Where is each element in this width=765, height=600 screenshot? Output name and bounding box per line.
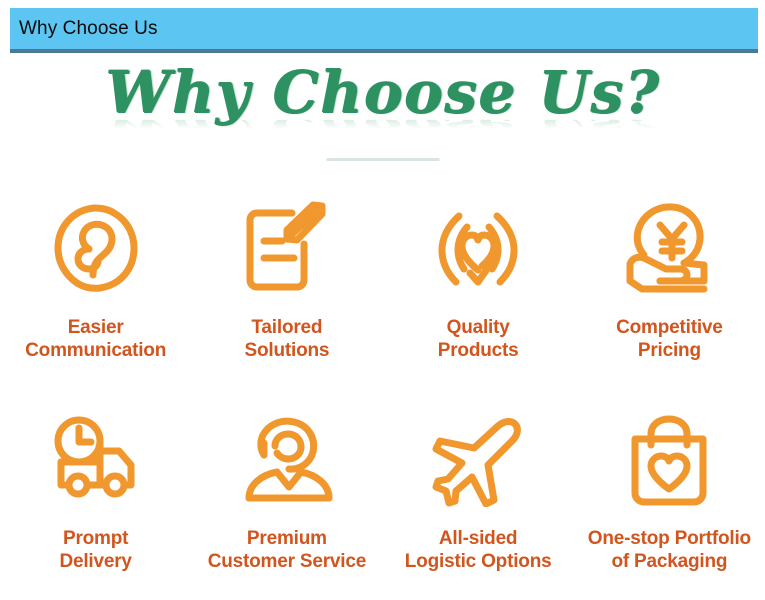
feature-card-all-sided-logistic-options[interactable]: All-sided Logistic Options: [383, 401, 574, 600]
hero-title-reflection: Why Choose Us?: [0, 120, 765, 129]
window-title: Why Choose Us: [10, 18, 158, 40]
ear-listening-icon: [48, 196, 144, 300]
feature-card-competitive-pricing[interactable]: Competitive Pricing: [574, 188, 765, 401]
heart-signal-check-icon: [430, 196, 526, 300]
hero-divider: [326, 158, 439, 161]
airplane-icon: [430, 409, 526, 513]
feature-label: Tailored Solutions: [245, 316, 330, 362]
shopping-bag-heart-icon: [621, 409, 717, 513]
feature-label: Premium Customer Service: [208, 527, 366, 573]
feature-grid: Easier Communication Tailored Solutions: [0, 188, 765, 600]
feature-label: One-stop Portfolio of Packaging: [588, 527, 751, 573]
feature-card-quality-products[interactable]: Quality Products: [383, 188, 574, 401]
feature-card-one-stop-portfolio[interactable]: One-stop Portfolio of Packaging: [574, 401, 765, 600]
feature-label: Prompt Delivery: [59, 527, 131, 573]
feature-label: Quality Products: [438, 316, 519, 362]
feature-card-tailored-solutions[interactable]: Tailored Solutions: [191, 188, 382, 401]
hand-coin-yen-icon: [621, 196, 717, 300]
hero-section: Why Choose Us? Why Choose Us?: [0, 57, 765, 175]
feature-label: Competitive Pricing: [616, 316, 723, 362]
feature-label: All-sided Logistic Options: [405, 527, 552, 573]
delivery-truck-clock-icon: [48, 409, 144, 513]
app-window: Why Choose Us Why Choose Us? Why Choose …: [0, 0, 765, 599]
feature-card-prompt-delivery[interactable]: Prompt Delivery: [0, 401, 191, 600]
hero-title-wrap: Why Choose Us? Why Choose Us?: [0, 57, 765, 155]
window-titlebar: Why Choose Us: [10, 8, 758, 53]
feature-card-premium-customer-service[interactable]: Premium Customer Service: [191, 401, 382, 600]
headset-agent-icon: [239, 409, 335, 513]
feature-label: Easier Communication: [25, 316, 166, 362]
hero-title: Why Choose Us?: [0, 57, 765, 127]
document-pencil-icon: [239, 196, 335, 300]
feature-card-easier-communication[interactable]: Easier Communication: [0, 188, 191, 401]
